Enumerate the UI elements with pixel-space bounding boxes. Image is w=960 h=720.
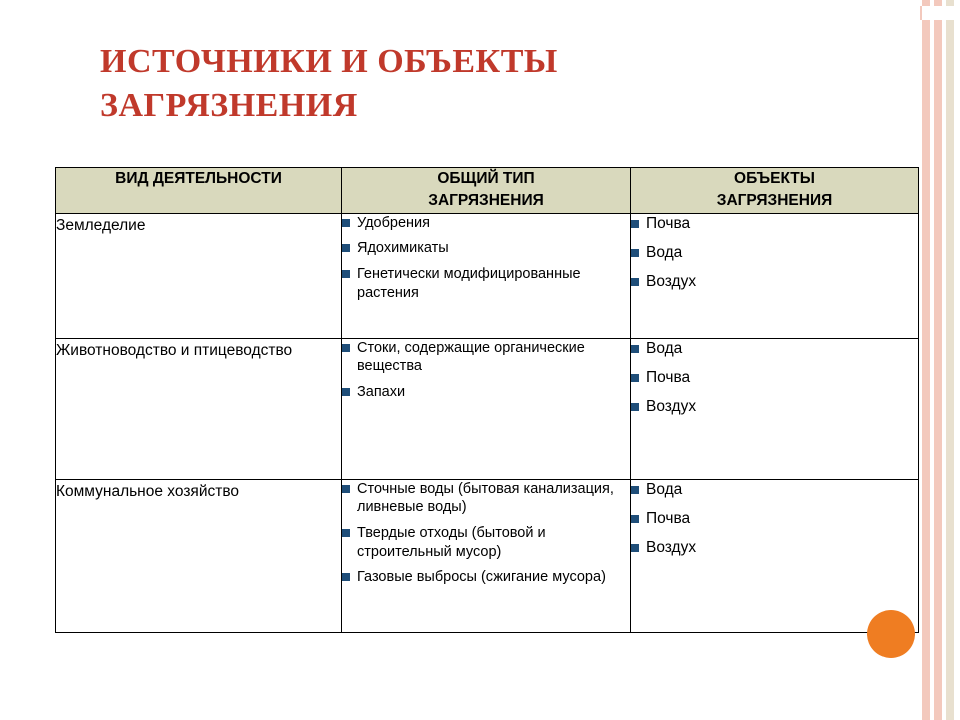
list-item: Вода [631, 339, 918, 359]
cell-pollution-types: Удобрения Ядохимикаты Генетически модифи… [342, 213, 631, 338]
cell-objects: Вода Почва Воздух [631, 338, 919, 479]
list-item: Почва [631, 214, 918, 234]
table-header-objects-line2: ЗАГРЯЗНЕНИЯ [631, 190, 918, 212]
slide-canvas: ИСТОЧНИКИ И ОБЪЕКТЫ ЗАГРЯЗНЕНИЯ ВИД ДЕЯТ… [0, 0, 960, 720]
cell-activity: Животноводство и птицеводство [56, 338, 342, 479]
table-row: Земледелие Удобрения Ядохимикаты Генетич… [56, 213, 919, 338]
list-item: Почва [631, 368, 918, 388]
table-row: Коммунальное хозяйство Сточные воды (быт… [56, 479, 919, 632]
list-item: Вода [631, 243, 918, 263]
list-item: Твердые отходы (бытовой и строительный м… [342, 524, 630, 561]
table-header-pollution-type-line1: ОБЩИЙ ТИП [342, 168, 630, 190]
bullet-list-objects: Вода Почва Воздух [631, 480, 918, 558]
list-item: Ядохимикаты [342, 239, 630, 258]
bullet-list-objects: Вода Почва Воздух [631, 339, 918, 417]
list-item: Воздух [631, 538, 918, 558]
table-head: ВИД ДЕЯТЕЛЬНОСТИ ОБЩИЙ ТИП ЗАГРЯЗНЕНИЯ О… [56, 168, 919, 214]
bullet-list-pollution-types: Удобрения Ядохимикаты Генетически модифи… [342, 214, 630, 302]
cell-pollution-types: Сточные воды (бытовая канализация, ливне… [342, 479, 631, 632]
table-header-objects-line1: ОБЪЕКТЫ [631, 168, 918, 190]
list-item: Сточные воды (бытовая канализация, ливне… [342, 480, 630, 517]
bullet-list-pollution-types: Сточные воды (бытовая канализация, ливне… [342, 480, 630, 587]
cell-objects: Почва Вода Воздух [631, 213, 919, 338]
table-body: Земледелие Удобрения Ядохимикаты Генетич… [56, 213, 919, 632]
list-item: Генетически модифицированные растения [342, 265, 630, 302]
table-header-activity: ВИД ДЕЯТЕЛЬНОСТИ [56, 168, 342, 214]
list-item: Воздух [631, 272, 918, 292]
cell-pollution-types: Стоки, содержащие органические вещества … [342, 338, 631, 479]
list-item: Воздух [631, 397, 918, 417]
cell-activity: Земледелие [56, 213, 342, 338]
table-header-row: ВИД ДЕЯТЕЛЬНОСТИ ОБЩИЙ ТИП ЗАГРЯЗНЕНИЯ О… [56, 168, 919, 214]
table-header-pollution-type-line2: ЗАГРЯЗНЕНИЯ [342, 190, 630, 212]
decor-top-notch [920, 6, 954, 20]
decor-bar-right [946, 0, 954, 720]
list-item: Почва [631, 509, 918, 529]
decor-bar-middle [934, 0, 942, 720]
bullet-list-objects: Почва Вода Воздух [631, 214, 918, 292]
table-row: Животноводство и птицеводство Стоки, сод… [56, 338, 919, 479]
list-item: Стоки, содержащие органические вещества [342, 339, 630, 376]
list-item: Запахи [342, 383, 630, 402]
list-item: Газовые выбросы (сжигание мусора) [342, 568, 630, 587]
table-header-objects: ОБЪЕКТЫ ЗАГРЯЗНЕНИЯ [631, 168, 919, 214]
bullet-list-pollution-types: Стоки, содержащие органические вещества … [342, 339, 630, 402]
decor-orange-circle [867, 610, 915, 658]
pollution-table: ВИД ДЕЯТЕЛЬНОСТИ ОБЩИЙ ТИП ЗАГРЯЗНЕНИЯ О… [55, 167, 919, 633]
cell-objects: Вода Почва Воздух [631, 479, 919, 632]
list-item: Удобрения [342, 214, 630, 233]
list-item: Вода [631, 480, 918, 500]
page-title: ИСТОЧНИКИ И ОБЪЕКТЫ ЗАГРЯЗНЕНИЯ [100, 40, 800, 127]
decor-bar-left [922, 0, 930, 720]
cell-activity: Коммунальное хозяйство [56, 479, 342, 632]
table-header-pollution-type: ОБЩИЙ ТИП ЗАГРЯЗНЕНИЯ [342, 168, 631, 214]
